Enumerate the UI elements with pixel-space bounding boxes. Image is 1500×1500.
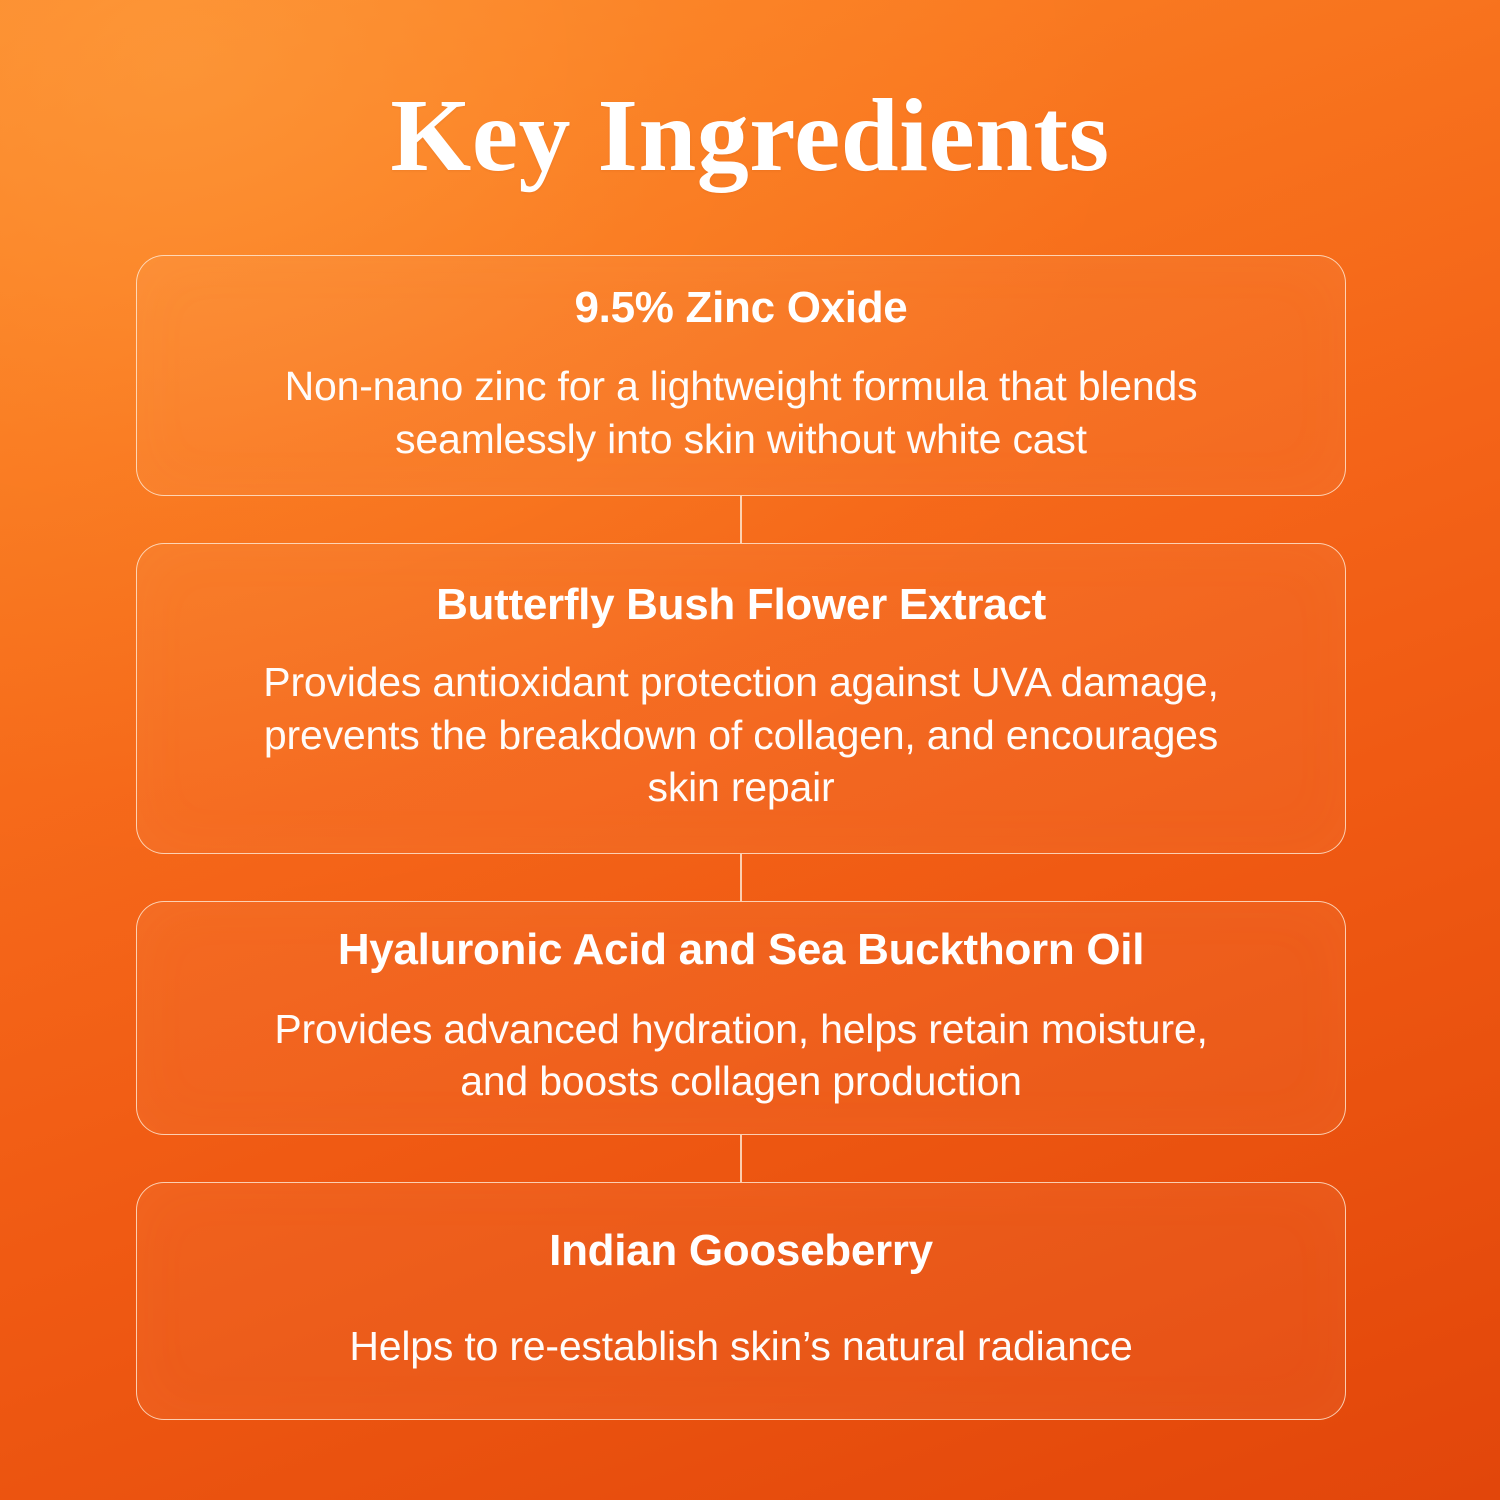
ingredient-card-stack: 9.5% Zinc Oxide Non-nano zinc for a ligh… <box>136 255 1346 1420</box>
ingredient-heading: Indian Gooseberry <box>549 1225 933 1278</box>
page-title: Key Ingredients <box>0 78 1500 194</box>
ingredient-card-hyaluronic-acid-sea-buckthorn-oil: Hyaluronic Acid and Sea Buckthorn Oil Pr… <box>136 901 1346 1135</box>
ingredient-description: Provides antioxidant protection against … <box>231 656 1251 813</box>
ingredient-card-indian-gooseberry: Indian Gooseberry Helps to re-establish … <box>136 1182 1346 1420</box>
ingredient-heading: Hyaluronic Acid and Sea Buckthorn Oil <box>338 924 1144 977</box>
ingredient-description: Provides advanced hydration, helps retai… <box>266 1003 1216 1108</box>
ingredient-heading: Butterfly Bush Flower Extract <box>436 579 1046 632</box>
ingredient-description: Helps to re-establish skin’s natural rad… <box>349 1320 1132 1372</box>
card-connector-line-3 <box>740 1135 742 1182</box>
ingredient-description: Non-nano zinc for a lightweight formula … <box>221 360 1261 465</box>
card-connector-line-1 <box>740 496 742 543</box>
ingredient-card-butterfly-bush-flower-extract: Butterfly Bush Flower Extract Provides a… <box>136 543 1346 854</box>
ingredient-card-zinc-oxide: 9.5% Zinc Oxide Non-nano zinc for a ligh… <box>136 255 1346 496</box>
card-connector-line-2 <box>740 854 742 901</box>
key-ingredients-infographic: Key Ingredients 9.5% Zinc Oxide Non-nano… <box>0 0 1500 1500</box>
ingredient-heading: 9.5% Zinc Oxide <box>575 282 908 335</box>
